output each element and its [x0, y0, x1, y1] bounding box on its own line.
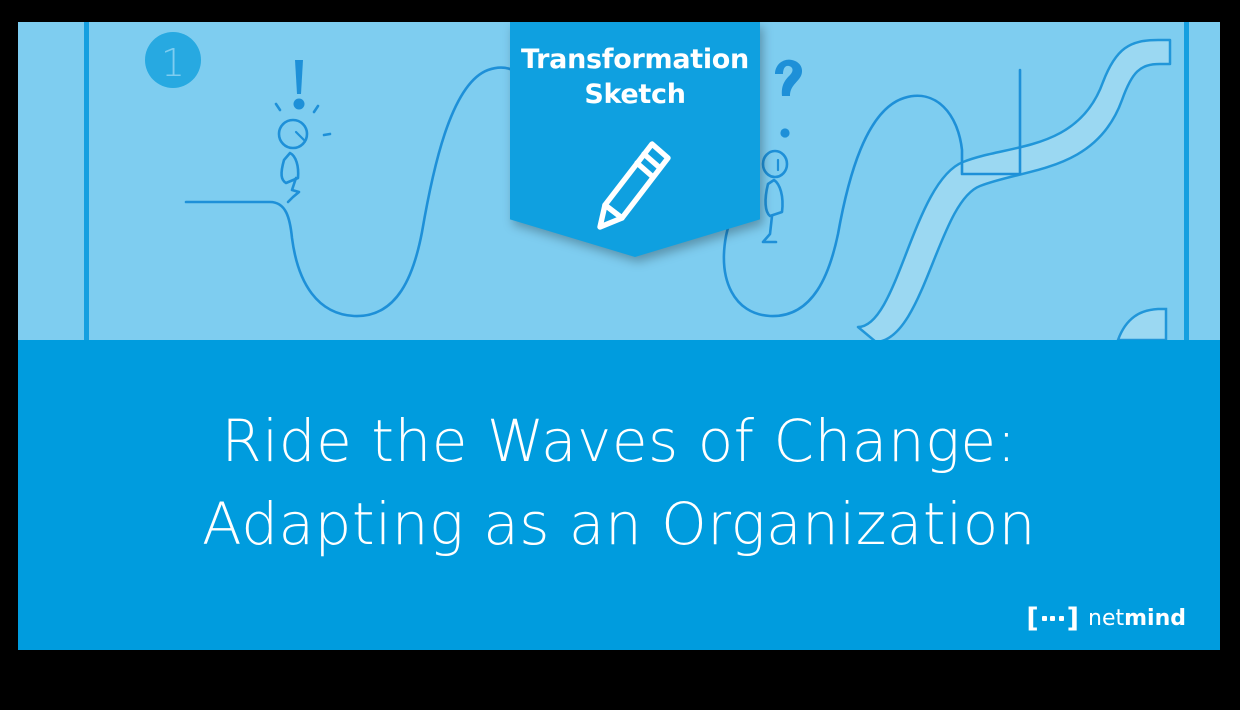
stick-figure-left	[276, 60, 330, 202]
logo-bracket-right: ]	[1067, 605, 1079, 632]
title-band: Ride the Waves of Change: Adapting as an…	[18, 340, 1220, 650]
banner-line-1: Transformation	[510, 42, 760, 77]
screenshot-root: 1 2 4	[0, 0, 1240, 710]
logo-mark-icon: [ ]	[1026, 605, 1079, 632]
stick-figure-right	[763, 60, 802, 242]
logo-dot	[1050, 616, 1055, 621]
logo-dots-icon	[1042, 616, 1064, 621]
presentation-slide: 1 2 4	[18, 22, 1220, 650]
logo-dot	[1042, 616, 1047, 621]
pencil-icon	[592, 134, 678, 238]
vertical-line-left	[84, 22, 89, 340]
exclamation-mark-glyph	[295, 60, 303, 94]
page-title: Ride the Waves of Change: Adapting as an…	[18, 400, 1220, 566]
title-line-1: Ride the Waves of Change:	[18, 400, 1220, 483]
logo-dot	[1059, 616, 1064, 621]
vertical-line-right	[1184, 22, 1189, 340]
wave-band-right	[858, 40, 1170, 340]
step-marker-1: 1	[145, 32, 201, 88]
logo-word-mind: mind	[1124, 606, 1186, 631]
title-line-2: Adapting as an Organization	[18, 483, 1220, 566]
logo-word-net: net	[1088, 606, 1124, 631]
banner-label: Transformation Sketch	[510, 22, 760, 112]
wave-line-main	[186, 68, 538, 317]
logo-bracket-left: [	[1026, 605, 1038, 632]
logo-wordmark: netmind	[1088, 608, 1186, 630]
question-mark-glyph	[775, 60, 802, 96]
wave-blob-bottom-right	[1118, 309, 1166, 340]
banner-line-2: Sketch	[510, 77, 760, 112]
transformation-sketch-banner: Transformation Sketch	[510, 22, 760, 257]
netmind-logo: [ ] netmind	[1026, 605, 1186, 632]
wave-line-right-segment	[724, 70, 1020, 316]
svg-text:1: 1	[161, 41, 185, 85]
